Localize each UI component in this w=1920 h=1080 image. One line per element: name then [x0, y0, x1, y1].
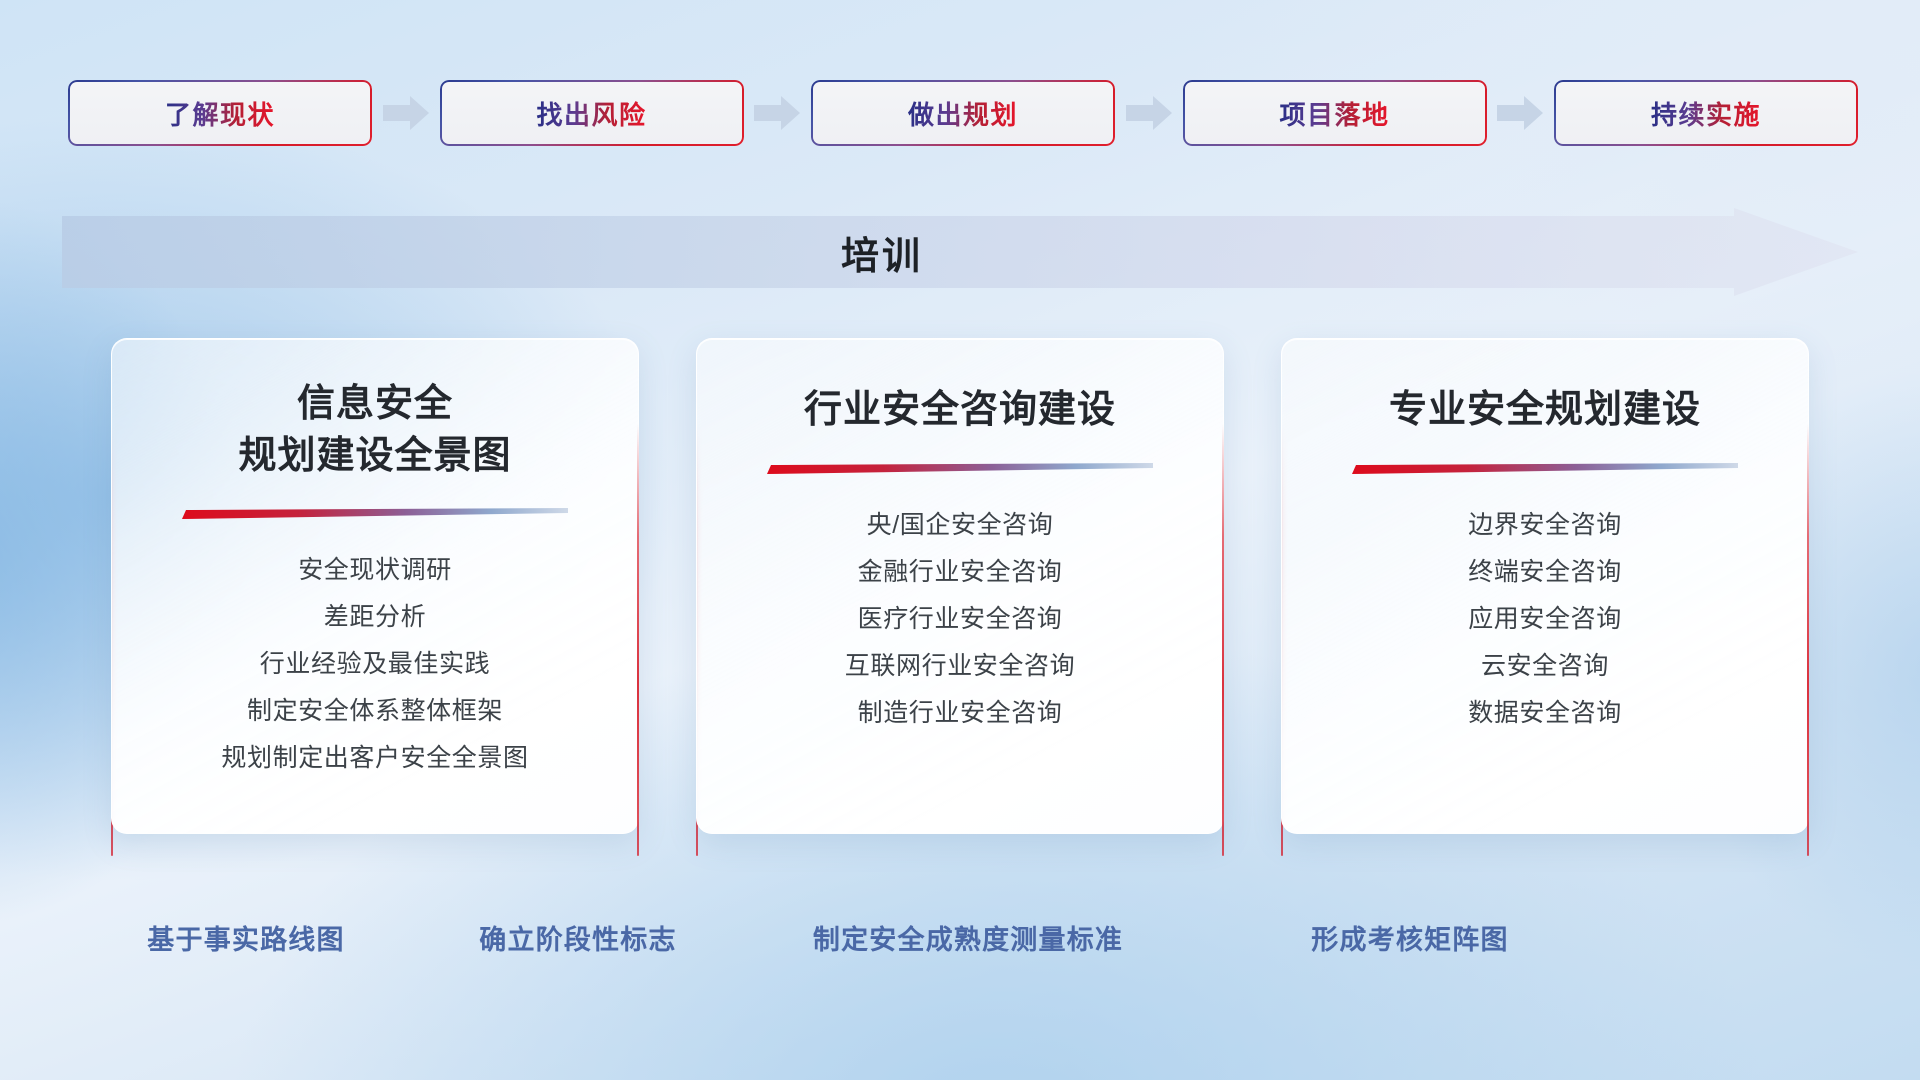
list-item: 制定安全体系整体框架 — [247, 688, 503, 735]
caption-4: 形成考核矩阵图 — [1311, 918, 1508, 957]
card-list-1: 安全现状调研 差距分析 行业经验及最佳实践 制定安全体系整体框架 规划制定出客户… — [112, 547, 638, 782]
card-wrap-3: 专业安全规划建设 — [1281, 338, 1809, 878]
step-label-3: 做出规划 — [908, 95, 1018, 132]
step-box-5[interactable]: 持续实施 — [1554, 80, 1858, 146]
card-divider-3 — [1352, 463, 1738, 476]
card-row: 信息安全 规划建设全景图 — [0, 338, 1920, 878]
list-item: 云安全咨询 — [1481, 643, 1609, 690]
list-item: 数据安全咨询 — [1468, 690, 1622, 737]
card-list-2: 央/国企安全咨询 金融行业安全咨询 医疗行业安全咨询 互联网行业安全咨询 制造行… — [697, 502, 1223, 737]
card-1[interactable]: 信息安全 规划建设全景图 — [111, 338, 639, 834]
list-item: 终端安全咨询 — [1468, 549, 1622, 596]
step-label-4: 项目落地 — [1279, 95, 1389, 132]
list-item: 规划制定出客户安全全景图 — [221, 735, 528, 782]
list-item: 医疗行业安全咨询 — [858, 596, 1063, 643]
step-box-2[interactable]: 找出风险 — [440, 80, 744, 146]
slide-canvas: 了解现状 找出风险 做出规划 项目落地 — [0, 0, 1920, 1080]
card-wrap-1: 信息安全 规划建设全景图 — [111, 338, 639, 878]
step-label-1: 了解现状 — [165, 95, 275, 132]
step-arrow-icon-1 — [372, 80, 440, 146]
caption-2: 确立阶段性标志 — [479, 918, 676, 957]
list-item: 边界安全咨询 — [1468, 502, 1622, 549]
card-wrap-2: 行业安全咨询建设 — [696, 338, 1224, 878]
list-item: 应用安全咨询 — [1468, 596, 1622, 643]
caption-1: 基于事实路线图 — [147, 918, 344, 957]
step-label-5: 持续实施 — [1651, 95, 1761, 132]
step-label-2: 找出风险 — [536, 95, 646, 132]
list-item: 差距分析 — [324, 594, 426, 641]
card-divider-2 — [767, 463, 1153, 476]
process-step-row: 了解现状 找出风险 做出规划 项目落地 — [68, 80, 1858, 146]
list-item: 行业经验及最佳实践 — [260, 641, 490, 688]
caption-3: 制定安全成熟度测量标准 — [813, 918, 1123, 957]
caption-row: 基于事实路线图 确立阶段性标志 制定安全成熟度测量标准 形成考核矩阵图 — [0, 918, 1920, 964]
card-list-3: 边界安全咨询 终端安全咨询 应用安全咨询 云安全咨询 数据安全咨询 — [1282, 502, 1808, 737]
step-box-3[interactable]: 做出规划 — [811, 80, 1115, 146]
step-box-4[interactable]: 项目落地 — [1183, 80, 1487, 146]
card-2[interactable]: 行业安全咨询建设 — [696, 338, 1224, 834]
banner-title: 培训 — [62, 208, 1702, 296]
card-divider-1 — [182, 508, 568, 521]
training-banner: 培训 — [62, 208, 1858, 296]
list-item: 金融行业安全咨询 — [858, 549, 1063, 596]
card-3[interactable]: 专业安全规划建设 — [1281, 338, 1809, 834]
step-arrow-icon-2 — [744, 80, 812, 146]
list-item: 制造行业安全咨询 — [858, 690, 1063, 737]
list-item: 互联网行业安全咨询 — [845, 643, 1075, 690]
list-item: 央/国企安全咨询 — [867, 502, 1054, 549]
step-arrow-icon-3 — [1115, 80, 1183, 146]
card-title-2: 行业安全咨询建设 — [804, 385, 1116, 437]
card-title-1: 信息安全 规划建设全景图 — [238, 379, 511, 482]
step-arrow-icon-4 — [1487, 80, 1555, 146]
list-item: 安全现状调研 — [298, 547, 452, 594]
card-title-3: 专业安全规划建设 — [1389, 385, 1701, 437]
step-box-1[interactable]: 了解现状 — [68, 80, 372, 146]
